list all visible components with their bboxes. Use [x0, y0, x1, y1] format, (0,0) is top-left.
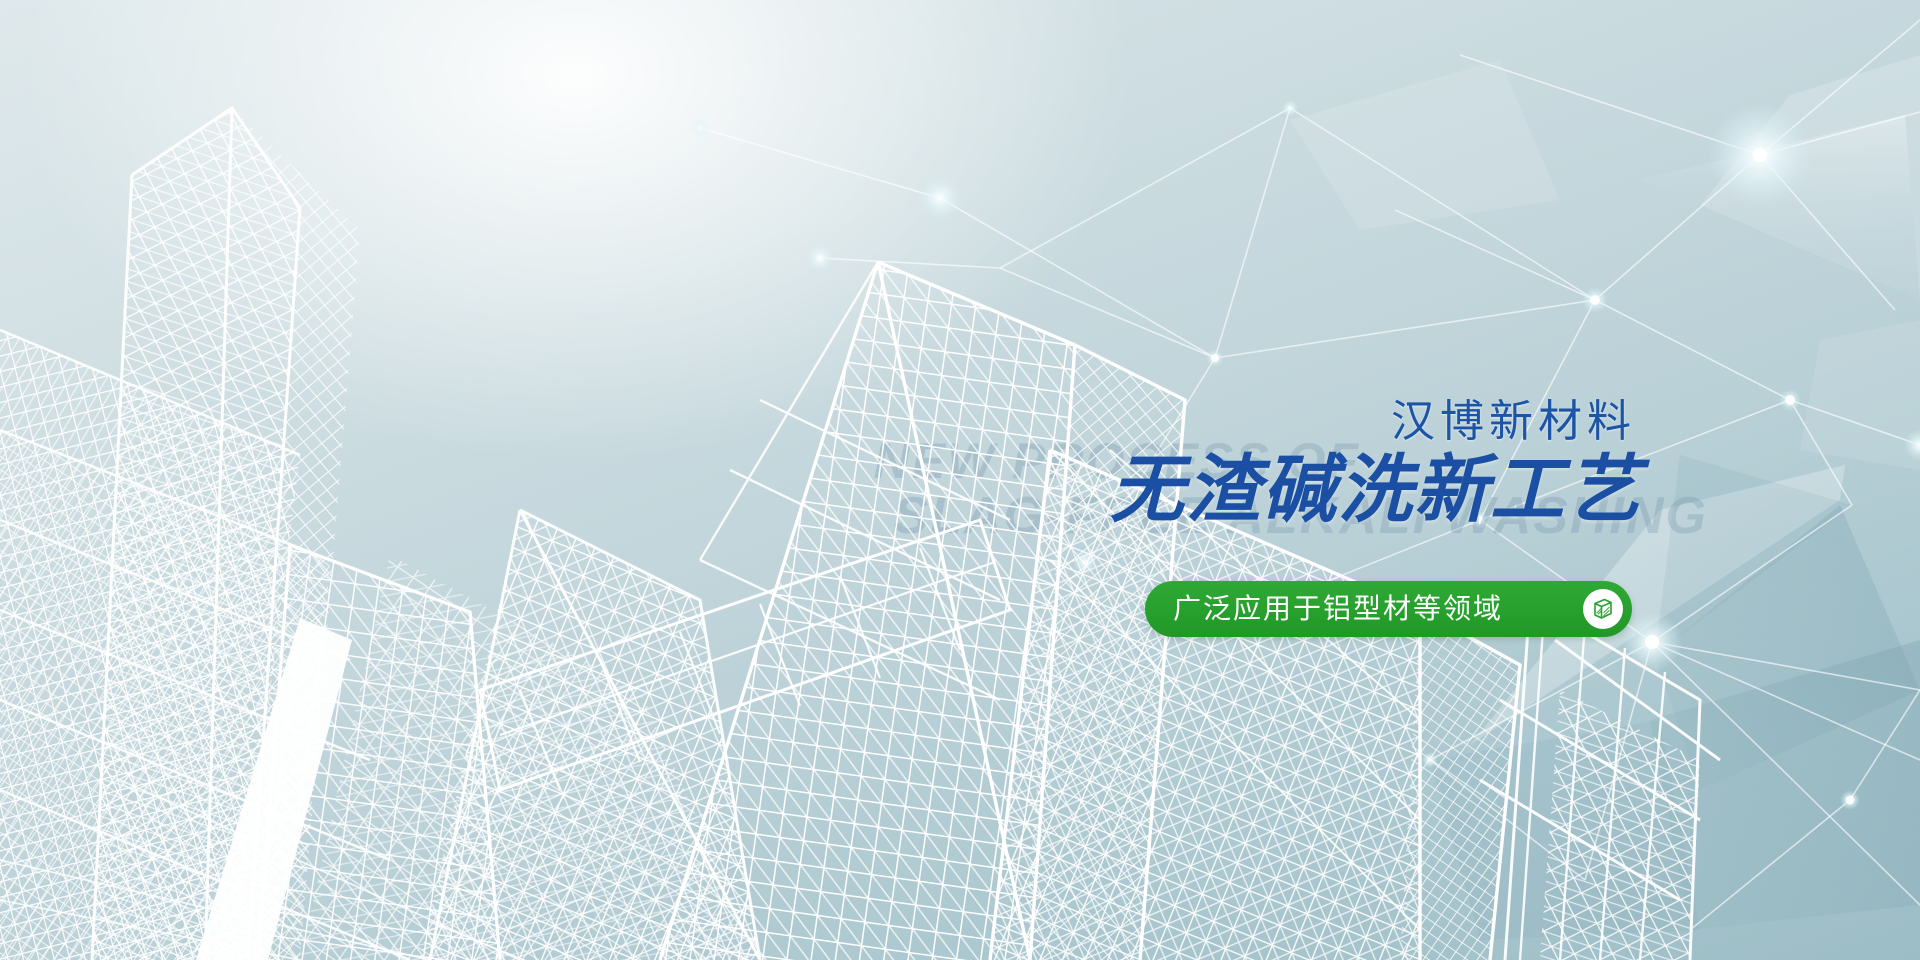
headline-block: 汉博新材料 无渣碱洗新工艺 — [1002, 398, 1642, 528]
page-title: 无渣碱洗新工艺 — [1002, 452, 1642, 529]
brand-name: 汉博新材料 — [1002, 398, 1642, 446]
cube-box-icon — [1583, 589, 1623, 629]
tagline-pill[interactable]: 广泛应用于铝型材等领域 — [1145, 581, 1632, 637]
tagline-text: 广泛应用于铝型材等领域 — [1173, 595, 1503, 623]
hero-banner: NEW PROCESS OF SLAG-FREE ALKALI WASHING — [0, 0, 1920, 960]
